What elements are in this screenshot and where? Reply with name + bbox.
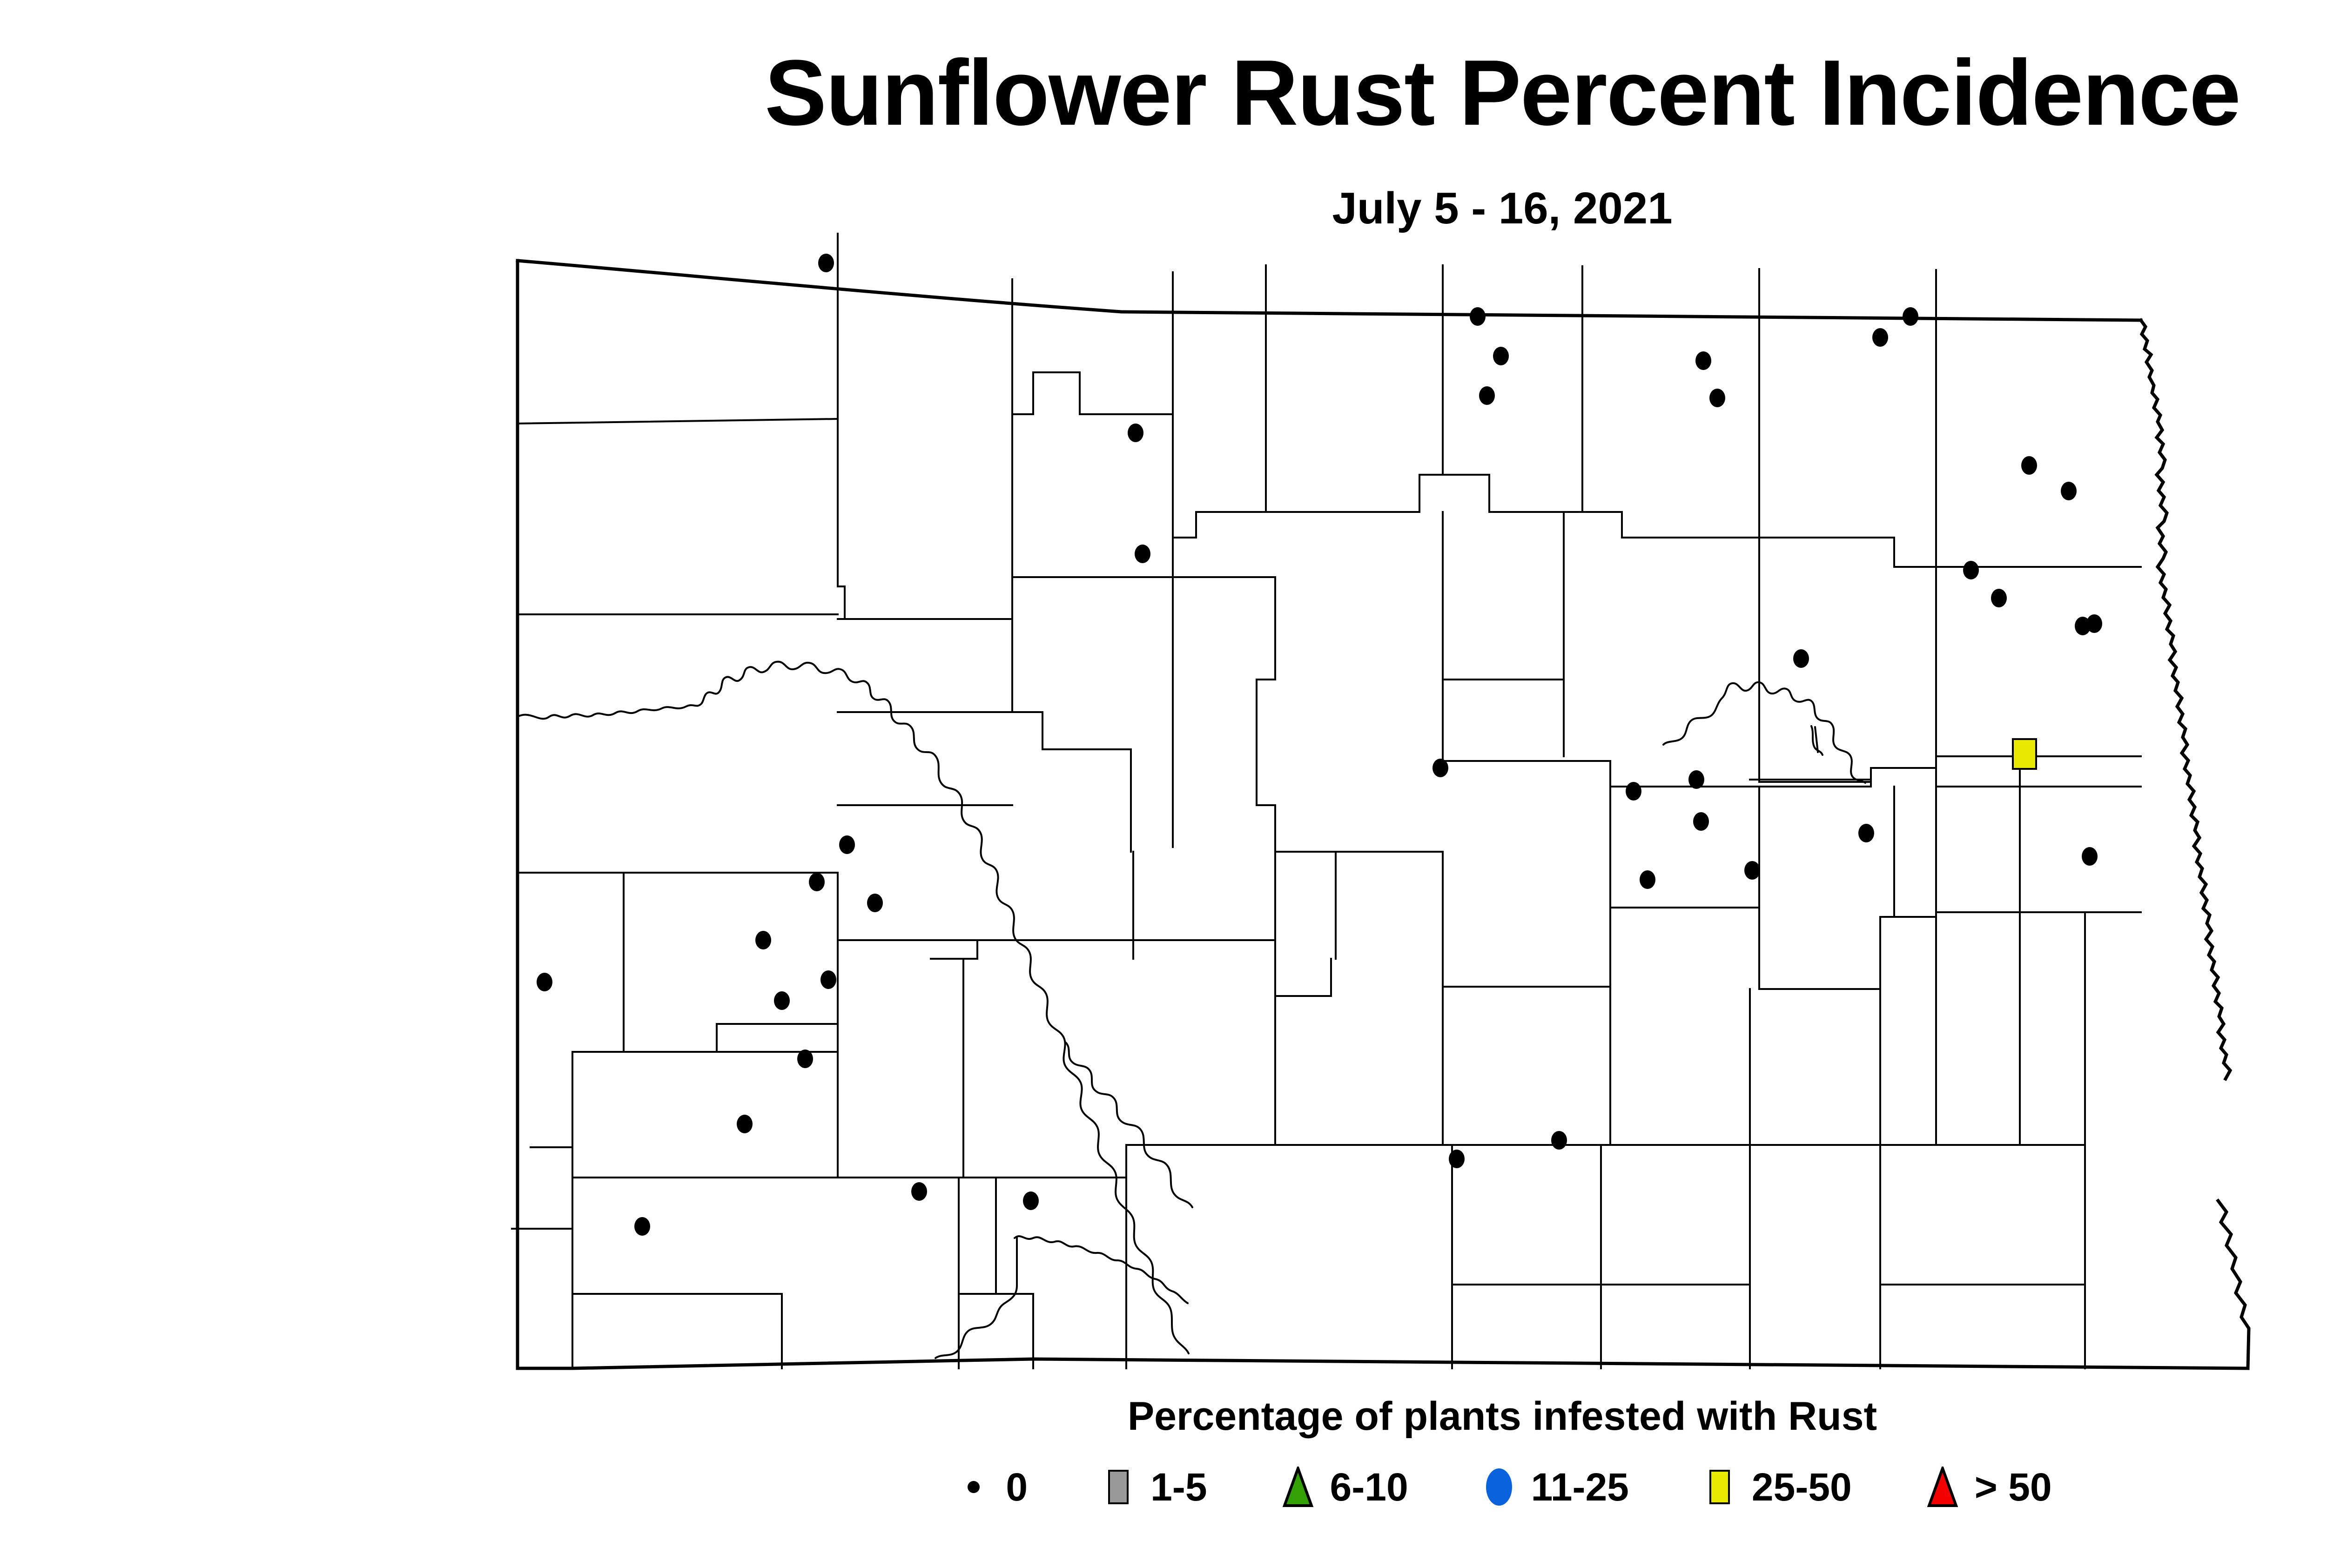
green-triangle-icon xyxy=(1277,1461,1319,1513)
map-marker-0[interactable] xyxy=(2061,482,2077,500)
map-marker-0[interactable] xyxy=(1551,1131,1567,1150)
map-marker-0[interactable] xyxy=(1693,812,1709,831)
map-marker-0[interactable] xyxy=(537,973,552,991)
legend-item-label: > 50 xyxy=(1975,1467,2052,1507)
missouri-river-south xyxy=(935,1043,1192,1358)
devils-lake xyxy=(1663,682,1865,783)
legend-item-1-5: 1-5 xyxy=(1097,1461,1207,1513)
map-page: Sunflower Rust Percent Incidence July 5 … xyxy=(0,0,2327,1568)
page-title: Sunflower Rust Percent Incidence xyxy=(0,47,2327,140)
map-marker-0[interactable] xyxy=(1626,782,1641,801)
legend-item-50: > 50 xyxy=(1922,1461,2052,1513)
legend-item-label: 0 xyxy=(1006,1467,1028,1507)
legend-title: Percentage of plants infested with Rust xyxy=(0,1396,2327,1436)
map-svg xyxy=(484,233,2327,1378)
map-marker-0[interactable] xyxy=(1470,307,1486,326)
map-marker-0[interactable] xyxy=(1640,870,1655,889)
map-marker-0[interactable] xyxy=(1709,389,1725,407)
map-marker-0[interactable] xyxy=(1793,649,1809,668)
map-marker-0[interactable] xyxy=(1695,351,1711,370)
legend-item-0: 0 xyxy=(953,1461,1028,1513)
map-marker-0[interactable] xyxy=(2086,614,2102,633)
black-dot-icon xyxy=(953,1461,995,1513)
map-marker-0[interactable] xyxy=(737,1115,753,1133)
legend-item-label: 11-25 xyxy=(1531,1467,1629,1507)
map-marker-0[interactable] xyxy=(867,894,883,912)
map-marker-0[interactable] xyxy=(1963,561,1979,579)
data-points-layer[interactable] xyxy=(537,254,2102,1236)
map-marker-0[interactable] xyxy=(1744,861,1760,880)
map-marker-0[interactable] xyxy=(1872,328,1888,347)
map-marker-0[interactable] xyxy=(1135,545,1150,563)
blue-circle-icon xyxy=(1478,1461,1520,1513)
map-marker-0[interactable] xyxy=(818,254,834,272)
legend-item-25-50: 25-50 xyxy=(1699,1461,1852,1513)
state-outline xyxy=(518,261,2249,1368)
map-marker-0[interactable] xyxy=(1991,589,2007,607)
map-marker-0[interactable] xyxy=(1023,1191,1039,1210)
map-marker-0[interactable] xyxy=(1128,424,1143,442)
map-marker-0[interactable] xyxy=(1479,386,1495,405)
map-marker-0[interactable] xyxy=(1449,1150,1465,1168)
map-marker-0[interactable] xyxy=(774,991,790,1010)
legend-item-label: 6-10 xyxy=(1330,1467,1408,1507)
map-marker-0[interactable] xyxy=(1433,759,1448,777)
map-marker-0[interactable] xyxy=(1688,770,1704,789)
map-marker-0[interactable] xyxy=(911,1182,927,1201)
north-dakota-map[interactable] xyxy=(484,233,2327,1378)
legend-item-label: 25-50 xyxy=(1752,1467,1852,1507)
map-marker-0[interactable] xyxy=(2021,456,2037,475)
map-marker-0[interactable] xyxy=(1858,824,1874,842)
legend: 01-56-1011-2525-50> 50 xyxy=(0,1457,2327,1517)
gray-square-icon xyxy=(1097,1461,1139,1513)
map-marker-0[interactable] xyxy=(634,1217,650,1236)
map-marker-0[interactable] xyxy=(1493,347,1509,365)
map-marker-0[interactable] xyxy=(809,873,825,891)
legend-item-11-25: 11-25 xyxy=(1478,1461,1629,1513)
missouri-river xyxy=(518,662,1189,1353)
map-marker-0[interactable] xyxy=(821,970,836,989)
legend-item-6-10: 6-10 xyxy=(1277,1461,1408,1513)
map-marker-0[interactable] xyxy=(797,1050,813,1068)
map-marker-0[interactable] xyxy=(839,835,855,854)
map-marker-0[interactable] xyxy=(2082,847,2098,866)
page-subtitle: July 5 - 16, 2021 xyxy=(0,186,2327,231)
map-marker-25-50[interactable] xyxy=(2013,739,2036,769)
legend-item-label: 1-5 xyxy=(1150,1467,1207,1507)
map-marker-0[interactable] xyxy=(1903,307,1918,326)
red-triangle-icon xyxy=(1922,1461,1964,1513)
yellow-square-icon xyxy=(1699,1461,1741,1513)
county-boundaries xyxy=(512,233,2141,1368)
map-marker-0[interactable] xyxy=(755,931,771,949)
